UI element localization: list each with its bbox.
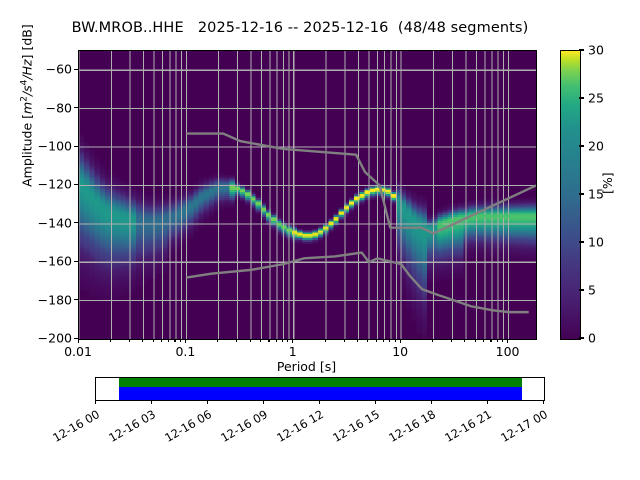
time-tick-label: 12-17 00 xyxy=(486,407,550,452)
time-tick-label: 12-16 09 xyxy=(206,407,270,452)
time-tick-mark xyxy=(263,400,264,404)
time-tick-label: 12-16 12 xyxy=(262,407,326,452)
colorbar-tick-mark xyxy=(579,49,584,50)
y-tick-label: −60 xyxy=(12,62,72,77)
colorbar-tick-mark xyxy=(579,241,584,242)
x-minor-tick-mark xyxy=(282,339,283,342)
x-minor-tick-mark xyxy=(174,339,175,342)
page-title: BW.MROB..HHE 2025-12-16 -- 2025-12-16 (4… xyxy=(0,20,600,36)
y-tick-mark xyxy=(74,69,78,70)
x-minor-tick-mark xyxy=(490,339,491,342)
x-minor-tick-mark xyxy=(464,339,465,342)
x-minor-tick-mark xyxy=(110,339,111,342)
x-tick-label: 1 xyxy=(258,344,328,359)
y-tick-label: −140 xyxy=(12,215,72,230)
x-minor-tick-mark xyxy=(153,339,154,342)
x-minor-tick-mark xyxy=(287,339,288,342)
y-axis-label: Amplitude [m2/s4/Hz] [dB] xyxy=(19,0,34,251)
x-minor-tick-mark xyxy=(367,339,368,342)
colorbar-label: [%] xyxy=(600,172,615,194)
colorbar-tick-label: 0 xyxy=(588,331,596,346)
x-minor-tick-mark xyxy=(276,339,277,342)
colorbar-tick-mark xyxy=(579,193,584,194)
colorbar-tick-label: 20 xyxy=(588,139,604,154)
x-major-tick-mark xyxy=(185,339,186,343)
x-minor-tick-mark xyxy=(180,339,181,342)
coverage-bar-blue xyxy=(119,387,522,400)
time-tick-label: 12-16 03 xyxy=(94,407,158,452)
y-tick-mark xyxy=(74,222,78,223)
time-tick-mark xyxy=(375,400,376,404)
colorbar-tick-label: 30 xyxy=(588,43,604,58)
x-minor-tick-mark xyxy=(376,339,377,342)
x-major-tick-mark xyxy=(507,339,508,343)
time-tick-label: 12-16 00 xyxy=(38,407,102,452)
colorbar-tick-mark xyxy=(579,289,584,290)
time-tick-label: 12-16 06 xyxy=(150,407,214,452)
colorbar-tick-label: 5 xyxy=(588,283,596,298)
x-minor-tick-mark xyxy=(268,339,269,342)
x-minor-tick-mark xyxy=(168,339,169,342)
y-tick-label: −120 xyxy=(12,177,72,192)
x-minor-tick-mark xyxy=(389,339,390,342)
colorbar-tick-label: 10 xyxy=(588,235,604,250)
y-tick-mark xyxy=(74,184,78,185)
x-minor-tick-mark xyxy=(236,339,237,342)
x-minor-tick-mark xyxy=(497,339,498,342)
x-minor-tick-mark xyxy=(217,339,218,342)
time-tick-mark xyxy=(95,400,96,404)
y-tick-mark xyxy=(74,299,78,300)
x-major-tick-mark xyxy=(400,339,401,343)
colorbar-tick-mark xyxy=(579,97,584,98)
ppsd-plot-area[interactable] xyxy=(78,50,537,340)
x-minor-tick-mark xyxy=(357,339,358,342)
time-tick-mark xyxy=(431,400,432,404)
x-tick-label: 10 xyxy=(365,344,435,359)
colorbar-tick-mark xyxy=(579,337,584,338)
time-tick-label: 12-16 15 xyxy=(318,407,382,452)
ppsd-histogram-canvas xyxy=(79,51,536,339)
colorbar xyxy=(560,50,581,340)
x-minor-tick-mark xyxy=(250,339,251,342)
time-tick-mark xyxy=(319,400,320,404)
time-tick-label: 12-16 18 xyxy=(374,407,438,452)
y-tick-mark xyxy=(74,261,78,262)
y-tick-label: −80 xyxy=(12,100,72,115)
time-tick-mark xyxy=(487,400,488,404)
time-tick-mark xyxy=(207,400,208,404)
x-tick-label: 0.01 xyxy=(43,344,113,359)
x-axis-label: Period [s] xyxy=(78,359,535,374)
x-minor-tick-mark xyxy=(451,339,452,342)
x-minor-tick-mark xyxy=(344,339,345,342)
x-minor-tick-mark xyxy=(395,339,396,342)
x-minor-tick-mark xyxy=(325,339,326,342)
colorbar-tick-mark xyxy=(579,145,584,146)
x-tick-label: 100 xyxy=(473,344,543,359)
x-minor-tick-mark xyxy=(129,339,130,342)
time-tick-mark xyxy=(543,400,544,404)
y-tick-label: −160 xyxy=(12,254,72,269)
x-minor-tick-mark xyxy=(432,339,433,342)
coverage-bar-green xyxy=(119,378,522,387)
data-coverage-bar[interactable] xyxy=(95,377,545,401)
ppsd-figure: BW.MROB..HHE 2025-12-16 -- 2025-12-16 (4… xyxy=(0,0,640,480)
y-tick-label: −180 xyxy=(12,292,72,307)
x-minor-tick-mark xyxy=(475,339,476,342)
x-minor-tick-mark xyxy=(260,339,261,342)
x-minor-tick-mark xyxy=(142,339,143,342)
time-tick-label: 12-16 21 xyxy=(430,407,494,452)
x-major-tick-mark xyxy=(78,339,79,343)
y-tick-mark xyxy=(74,107,78,108)
x-minor-tick-mark xyxy=(502,339,503,342)
x-minor-tick-mark xyxy=(483,339,484,342)
y-tick-mark xyxy=(74,146,78,147)
x-minor-tick-mark xyxy=(161,339,162,342)
x-major-tick-mark xyxy=(292,339,293,343)
y-tick-label: −100 xyxy=(12,139,72,154)
time-tick-mark xyxy=(151,400,152,404)
x-tick-label: 0.1 xyxy=(150,344,220,359)
x-minor-tick-mark xyxy=(383,339,384,342)
colorbar-tick-label: 25 xyxy=(588,91,604,106)
